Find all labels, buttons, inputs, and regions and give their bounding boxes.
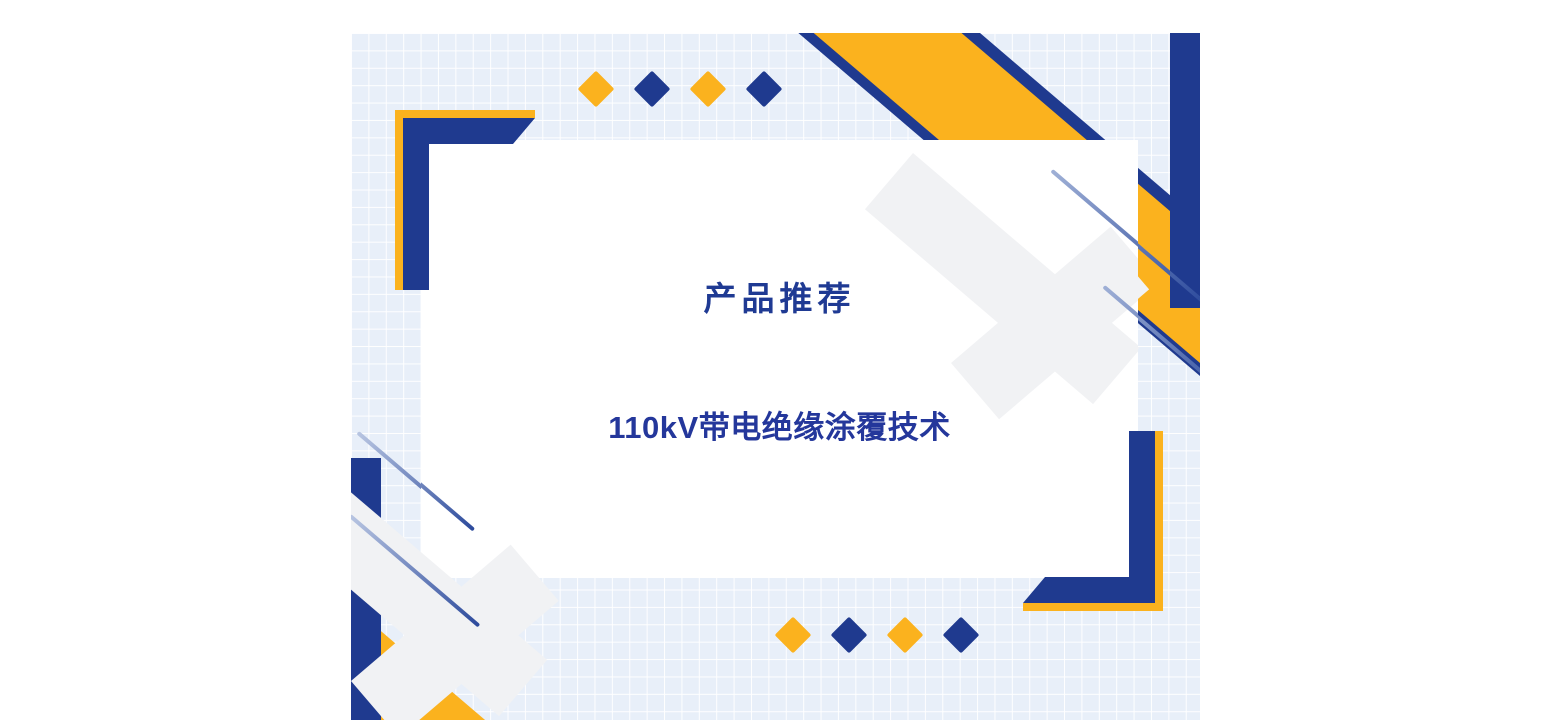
corner-bracket-top-left [395,110,535,290]
presentation-slide: 产品推荐 110kV带电绝缘涂覆技术 [351,33,1200,720]
card-chevron-bottom-left-upper [421,465,547,578]
card-hairline-3 [421,431,475,531]
corner-accent-vertical-bottom-right [1155,431,1163,611]
corner-accent-horizontal-bottom-right [1023,603,1163,611]
corner-shape-blue-bottom-right [1023,431,1155,603]
corner-shape-blue-top-left [403,118,535,290]
vertical-bar-blue-top-right [1170,33,1200,308]
corner-accent-horizontal-top-left [395,110,535,118]
screenshot-root: 产品推荐 110kV带电绝缘涂覆技术 [0,0,1552,720]
corner-accent-vertical-top-left [395,110,403,290]
corner-bracket-bottom-right [1023,431,1163,611]
